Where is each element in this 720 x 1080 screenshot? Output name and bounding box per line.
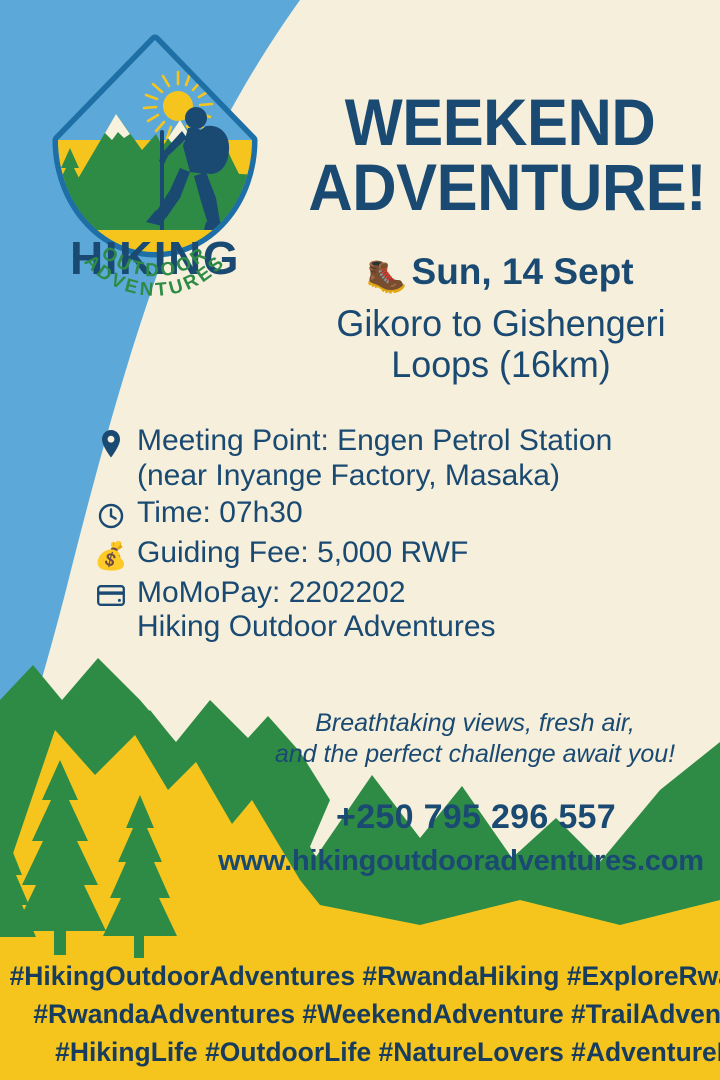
detail-text-time: Time: 07h30 xyxy=(137,496,696,531)
detail-sub-meeting-point: (near Inyange Factory, Masaka) xyxy=(137,459,696,494)
contact-phone[interactable]: +250 795 296 557 xyxy=(250,798,702,837)
detail-row-guiding-fee: 💰 Guiding Fee: 5,000 RWF xyxy=(96,536,696,574)
event-route: Gikoro to Gishengeri Loops (16km) xyxy=(292,303,709,386)
event-date-text: Sun, 14 Sept xyxy=(412,251,634,292)
money-bag-icon: 💰 xyxy=(96,536,126,574)
event-details-list: Meeting Point: Engen Petrol Station (nea… xyxy=(96,424,696,647)
tagline-line-2: and the perfect challenge await you! xyxy=(250,739,700,770)
tagline-line-1: Breathtaking views, fresh air, xyxy=(250,708,700,739)
money-bag-glyph: 💰 xyxy=(94,538,128,574)
clock-icon xyxy=(96,496,126,534)
hashtag-row-1: #HikingOutdoorAdventures #RwandaHiking #… xyxy=(10,958,720,996)
detail-text-guiding-fee: Guiding Fee: 5,000 RWF xyxy=(137,536,696,571)
detail-main-momopay: MoMoPay: 2202202 xyxy=(137,576,406,609)
location-pin-icon xyxy=(96,424,126,462)
route-line-2: Loops (16km) xyxy=(292,344,709,385)
contact-website[interactable]: www.hikingoutdooradventures.com xyxy=(216,845,706,878)
credit-card-icon xyxy=(96,576,126,614)
tagline: Breathtaking views, fresh air, and the p… xyxy=(250,708,700,771)
detail-row-momopay: MoMoPay: 2202202 Hiking Outdoor Adventur… xyxy=(96,576,696,646)
headline-line-1: WEEKEND xyxy=(345,85,655,159)
hashtag-row-2: #RwandaAdventures #WeekendAdventure #Tra… xyxy=(33,996,720,1034)
hashtag-row-3: #HikingLife #OutdoorLife #NatureLovers #… xyxy=(55,1034,720,1072)
detail-text-momopay: MoMoPay: 2202202 Hiking Outdoor Adventur… xyxy=(137,576,696,646)
detail-row-meeting-point: Meeting Point: Engen Petrol Station (nea… xyxy=(96,424,696,494)
event-date: 🥾Sun, 14 Sept xyxy=(286,252,714,294)
headline-line-2: ADVENTURE! xyxy=(308,155,691,220)
detail-sub-momopay: Hiking Outdoor Adventures xyxy=(137,610,696,645)
weekend-adventure-poster: HIKING OUTDOOR ADVENTURES WEEKEND ADVENT… xyxy=(0,0,720,1080)
poster-content-layer: WEEKEND ADVENTURE! 🥾Sun, 14 Sept Gikoro … xyxy=(0,0,720,1080)
page-title: WEEKEND ADVENTURE! xyxy=(308,90,691,219)
hiking-boot-icon: 🥾 xyxy=(366,257,407,294)
detail-row-time: Time: 07h30 xyxy=(96,496,696,534)
detail-text-meeting-point: Meeting Point: Engen Petrol Station (nea… xyxy=(137,424,696,494)
route-line-1: Gikoro to Gishengeri xyxy=(292,303,709,344)
hashtag-block: #HikingOutdoorAdventures #RwandaHiking #… xyxy=(0,958,720,1071)
detail-main-meeting-point: Meeting Point: Engen Petrol Station xyxy=(137,424,612,457)
